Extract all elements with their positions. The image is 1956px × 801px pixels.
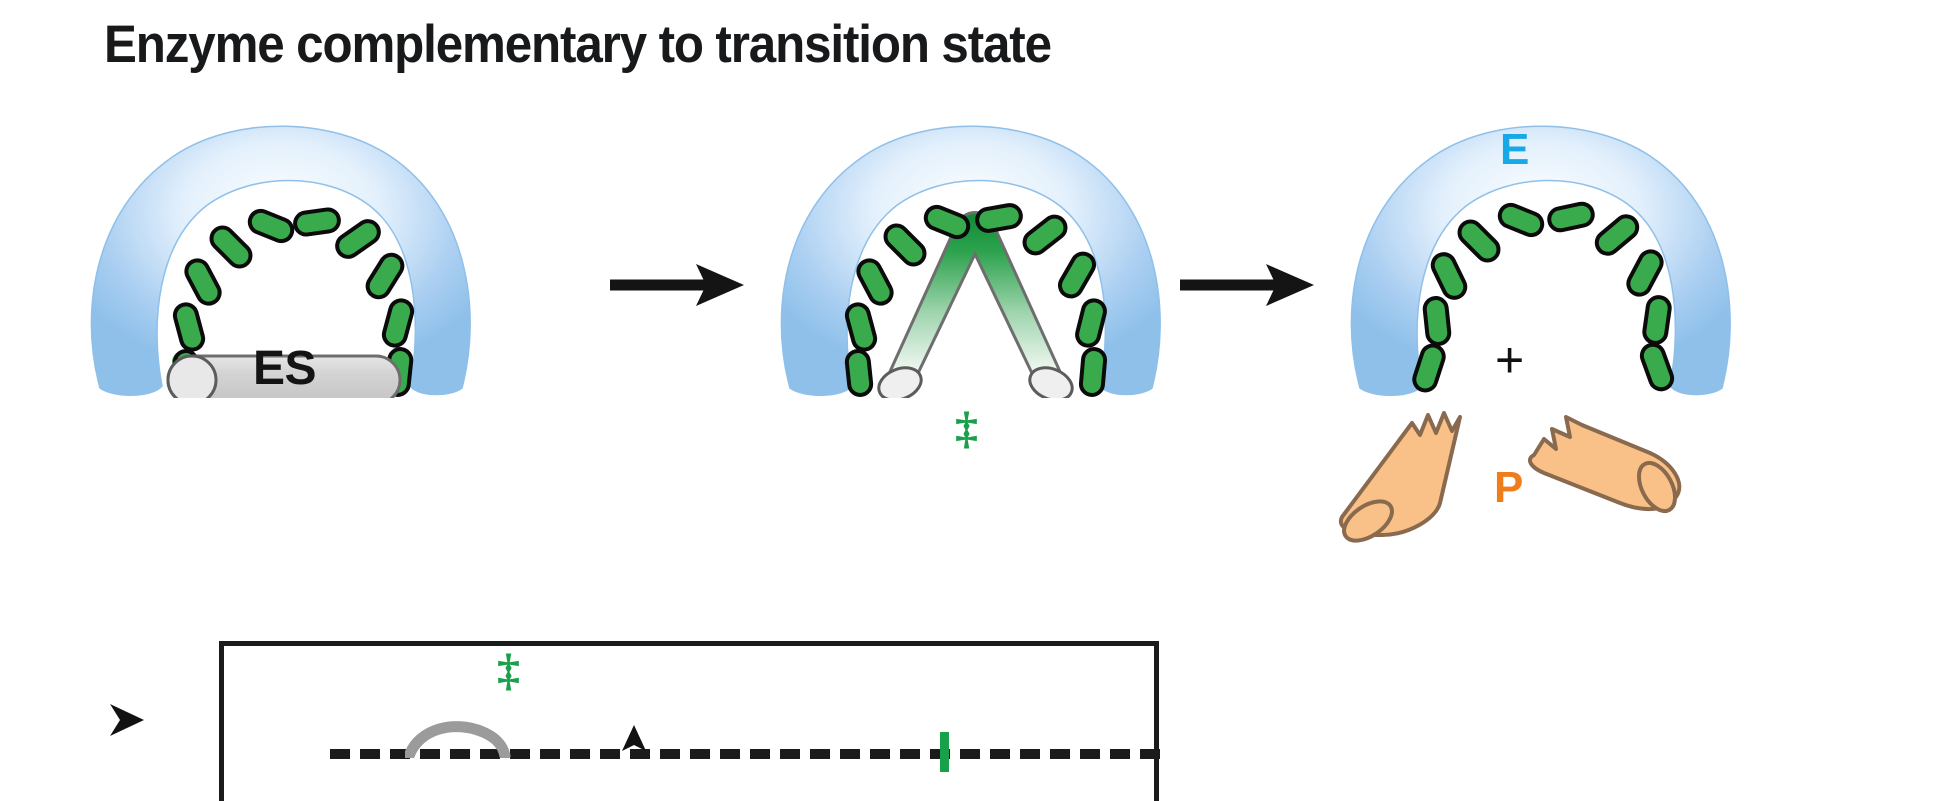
transition-state-dagger-label: ‡ [955,401,978,454]
label-es: ES [253,341,316,396]
chart-axis-arrow [110,700,180,745]
label-plus: + [1495,331,1524,389]
arrow-transition-to-products [1180,255,1320,320]
figure-canvas: Enzyme complementary to transition state [0,0,1956,738]
page-title: Enzyme complementary to transition state [104,14,1051,75]
chart-transition-state-dagger: ‡ [497,643,520,696]
product-fragment-right [1530,417,1683,517]
label-p: P [1494,463,1523,513]
product-fragment-left [1337,413,1460,549]
panel-free-enzyme [1330,108,1760,398]
energy-diagram-frame [219,641,1159,801]
active-site-dashes [1411,202,1675,394]
panel-transition-state [760,108,1190,398]
chart-energy-arrow [620,725,650,770]
product-fragments [1320,395,1750,555]
arrow-es-to-transition [610,255,750,320]
label-e: E [1500,125,1529,175]
reaction-profile-curve [405,718,585,763]
enzyme-body-shape [1351,126,1730,395]
chart-green-marker [940,732,949,772]
